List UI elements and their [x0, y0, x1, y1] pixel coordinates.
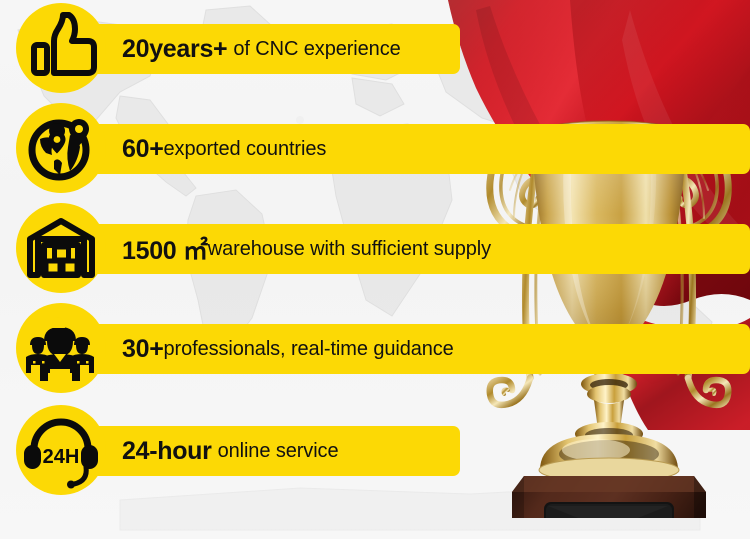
- feature-row: 1500 ㎡ warehouse with sufficient supply: [0, 201, 750, 297]
- feature-icon-badge: [16, 103, 106, 193]
- feature-icon-badge: 24H: [16, 405, 106, 495]
- feature-row: 24H 24-hour online service: [0, 403, 750, 499]
- feature-label: 30+ professionals, real-time guidance: [122, 324, 454, 374]
- workers-icon: [16, 303, 106, 393]
- feature-stat: 60+: [122, 135, 164, 164]
- feature-desc: professionals, real-time guidance: [164, 338, 454, 361]
- feature-row: 30+ professionals, real-time guidance: [0, 301, 750, 397]
- feature-stat: 24-hour: [122, 437, 212, 466]
- feature-desc: warehouse with sufficient supply: [208, 238, 491, 261]
- feature-stat: 20years+: [122, 35, 227, 64]
- headset-24h-icon: 24H: [16, 405, 106, 495]
- feature-row: 20years+ of CNC experience: [0, 1, 750, 97]
- feature-label: 20years+ of CNC experience: [122, 24, 401, 74]
- feature-label: 1500 ㎡ warehouse with sufficient supply: [122, 224, 491, 274]
- thumbs-up-icon: [16, 3, 106, 93]
- feature-desc: online service: [218, 440, 339, 463]
- globe-pins-icon: [16, 103, 106, 193]
- feature-stat: 30+: [122, 335, 164, 364]
- promo-graphic: 20years+ of CNC experience 60+ exported …: [0, 0, 750, 539]
- feature-desc: exported countries: [164, 138, 327, 161]
- feature-icon-badge: [16, 303, 106, 393]
- headset-label: 24H: [43, 446, 80, 468]
- feature-icon-badge: [16, 203, 106, 293]
- feature-row: 60+ exported countries: [0, 101, 750, 197]
- warehouse-icon: [16, 203, 106, 293]
- feature-desc: of CNC experience: [233, 38, 400, 61]
- feature-stat: 1500 ㎡: [122, 231, 208, 267]
- feature-label: 24-hour online service: [122, 426, 338, 476]
- feature-label: 60+ exported countries: [122, 124, 326, 174]
- feature-icon-badge: [16, 3, 106, 93]
